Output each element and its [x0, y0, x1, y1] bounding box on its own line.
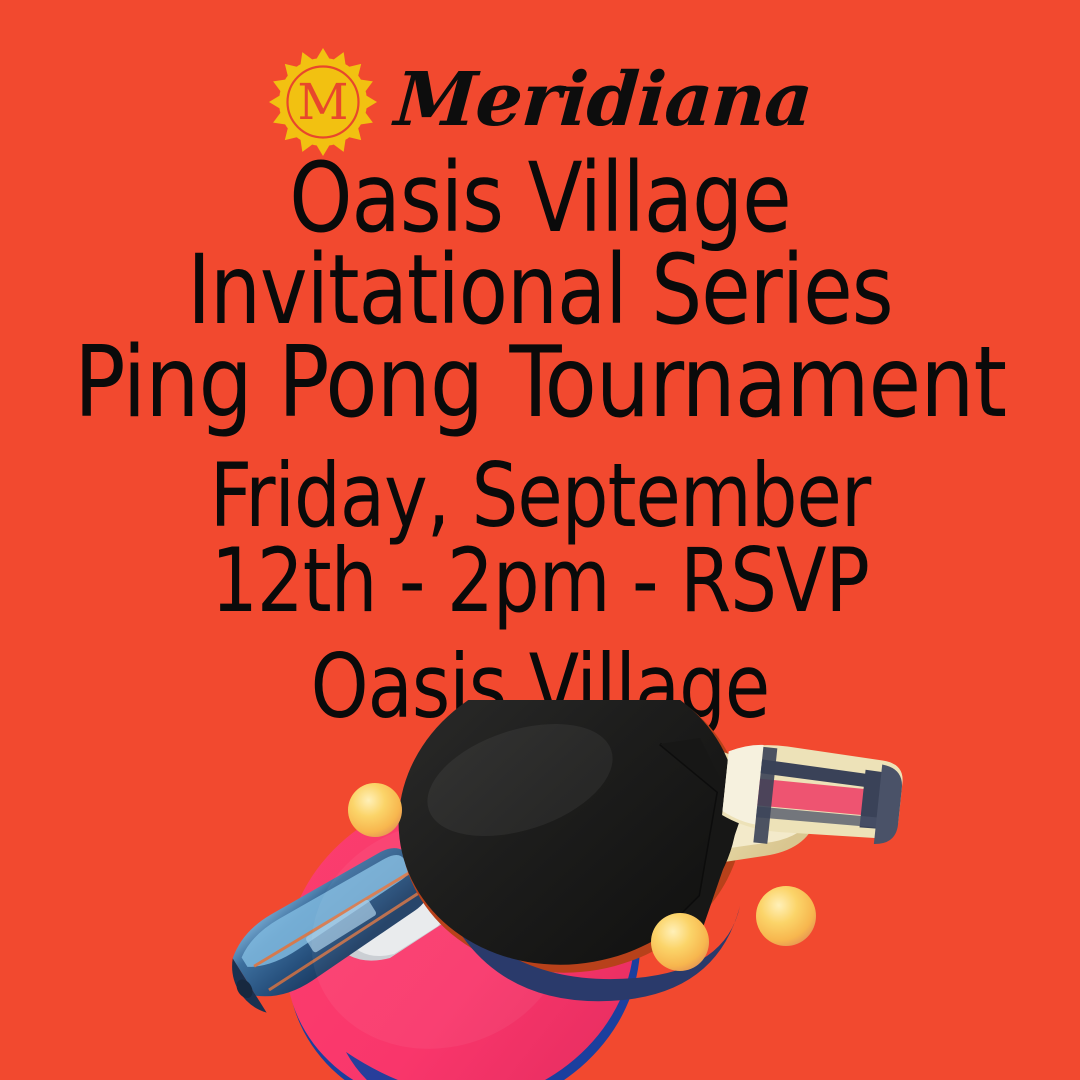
headline-line-2: Invitational Series	[38, 244, 1042, 336]
ball-right	[756, 886, 816, 946]
headline-line-3: Ping Pong Tournament	[16, 336, 1064, 430]
ball-center	[651, 913, 709, 971]
poster-canvas: M Meridiana Oasis Village Invitational S…	[0, 0, 1080, 1080]
ball-left	[348, 783, 402, 837]
headline-line-1: Oasis Village	[38, 152, 1042, 244]
ping-pong-paddles-and-balls	[0, 700, 1080, 1080]
sun-monogram-icon: M	[269, 48, 377, 156]
svg-text:M: M	[297, 73, 348, 131]
detail-line-1: Friday, September	[38, 454, 1042, 538]
poster-text-block: Oasis Village Invitational Series Ping P…	[0, 152, 1080, 730]
brand-name: Meridiana	[392, 63, 814, 137]
detail-line-2: 12th - 2pm - RSVP	[38, 539, 1042, 623]
